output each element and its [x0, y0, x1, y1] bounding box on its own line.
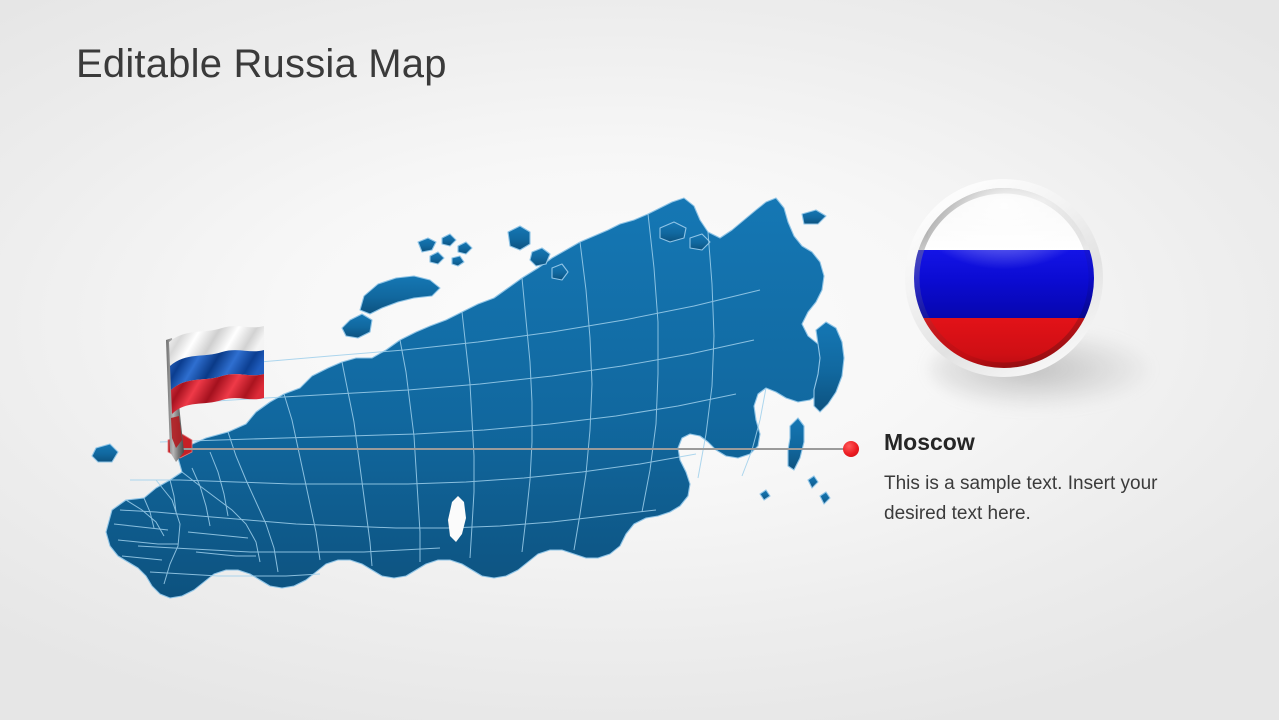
russia-flag-badge[interactable]	[898, 172, 1110, 384]
callout-city-title: Moscow	[884, 430, 1204, 455]
page-title: Editable Russia Map	[76, 42, 447, 87]
russia-flag-pin[interactable]	[150, 306, 270, 471]
badge-flag-bands	[898, 172, 1110, 384]
slide-canvas: Editable Russia Map	[0, 0, 1279, 720]
callout-description: This is a sample text. Insert your desir…	[884, 469, 1184, 528]
callout-connector-line	[175, 448, 851, 450]
callout-text-block: Moscow This is a sample text. Insert you…	[884, 430, 1204, 528]
moscow-marker-dot[interactable]	[843, 441, 859, 457]
